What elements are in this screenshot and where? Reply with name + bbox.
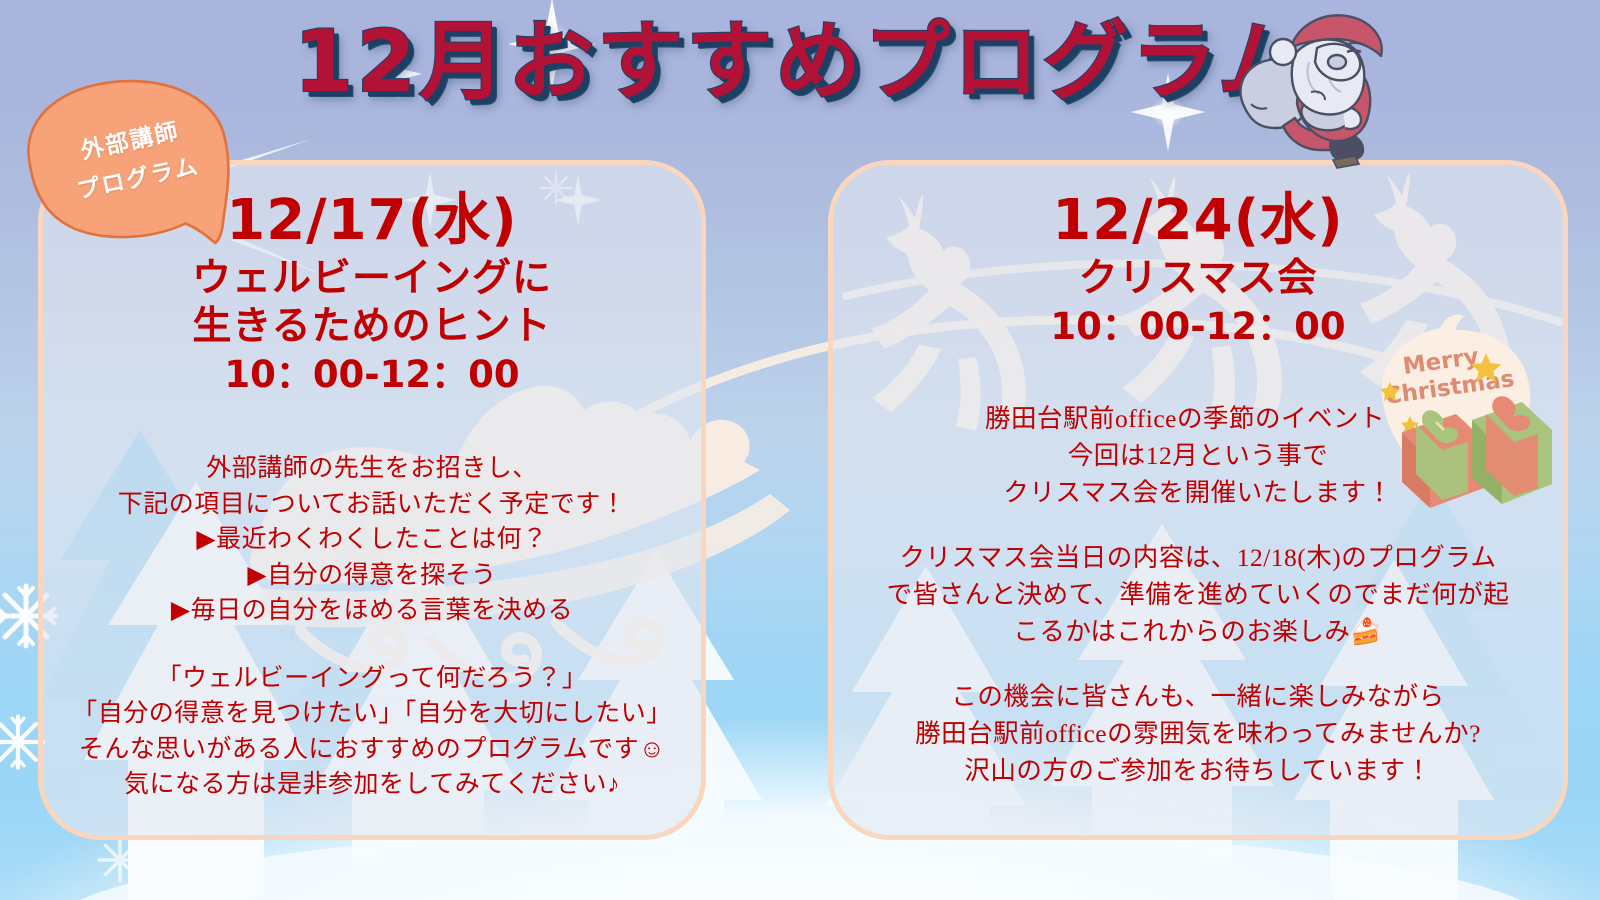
santa-claus-icon <box>1225 8 1395 168</box>
merry-christmas-gifts-icon: Merry Christmas <box>1360 312 1590 522</box>
card-subtitle: ウェルビーイングに 生きるためのヒント <box>69 255 675 350</box>
card-content-left: 12/17(水) ウェルビーイングに 生きるためのヒント 10：00-12：00… <box>69 191 675 803</box>
card-date: 12/24(水) <box>859 191 1537 251</box>
card-paragraph: 外部講師の先生をお招きし、 下記の項目についてお話いただく予定です！ ▶最近わく… <box>69 451 675 629</box>
page-title: 12月おすすめプログラム <box>293 14 1306 110</box>
card-time: 10：00-12：00 <box>69 353 675 397</box>
card-paragraph: 「ウェルビーイングって何だろう？」 「自分の得意を見つけたい」「自分を大切にした… <box>69 661 675 803</box>
card-subtitle: クリスマス会 <box>859 255 1537 303</box>
external-instructor-badge: 外部講師 プログラム <box>15 69 247 259</box>
program-card-left[interactable]: 12/17(水) ウェルビーイングに 生きるためのヒント 10：00-12：00… <box>38 160 706 840</box>
santa-claus-svg <box>1225 8 1395 168</box>
gift-bag-svg: Merry Christmas <box>1360 312 1590 522</box>
card-paragraph: この機会に皆さんも、一緒に楽しみながら 勝田台駅前officeの雰囲気を味わって… <box>859 679 1537 790</box>
card-paragraph: クリスマス会当日の内容は、12/18(木)のプログラム で皆さんと決めて、準備を… <box>859 540 1537 651</box>
poster-canvas: 12月おすすめプログラム 外部講師 プログラム 12/17(水) ウェルビーイン… <box>0 0 1600 900</box>
